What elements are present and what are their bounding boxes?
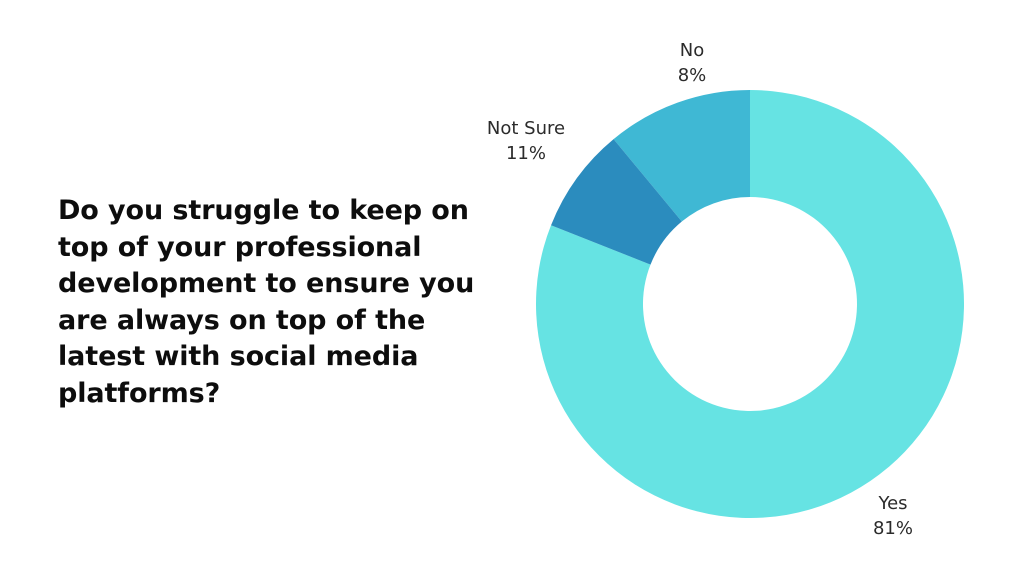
slide-canvas: Do you struggle to keep on top of your p… — [0, 0, 1024, 576]
slice-label-yes-value: 81% — [833, 516, 953, 541]
slice-label-no-value: 8% — [632, 63, 752, 88]
slice-label-no: No 8% — [632, 38, 752, 88]
slice-label-yes: Yes 81% — [833, 491, 953, 541]
slice-label-no-name: No — [632, 38, 752, 63]
slice-label-not-sure-value: 11% — [466, 141, 586, 166]
slice-label-not-sure-name: Not Sure — [466, 116, 586, 141]
donut-chart — [536, 90, 964, 518]
page-title: Do you struggle to keep on top of your p… — [58, 193, 488, 412]
slice-label-yes-name: Yes — [833, 491, 953, 516]
slice-label-not-sure: Not Sure 11% — [466, 116, 586, 166]
donut-chart-svg — [536, 90, 964, 518]
